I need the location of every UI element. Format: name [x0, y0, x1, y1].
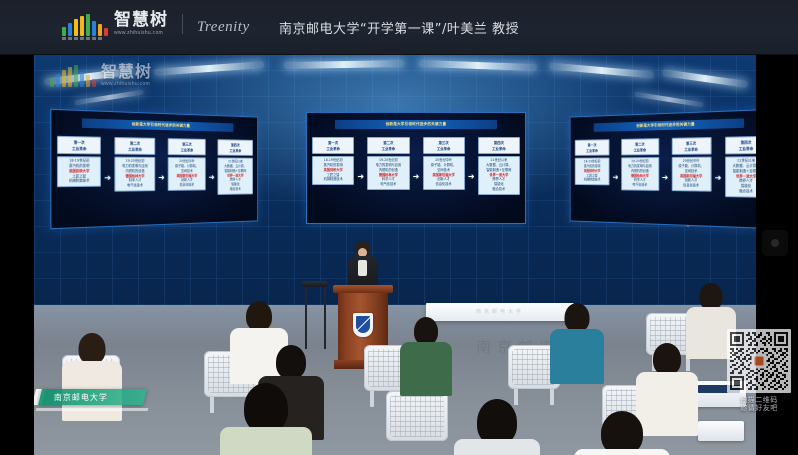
video-player[interactable]: 创新是大学引领时代进步的关键力量 第一次工业革命18-19世纪初蒸汽机的发明英国… — [0, 55, 798, 455]
stool — [302, 281, 328, 351]
slide-item: 大数据、云计算、 — [224, 165, 246, 168]
slide-arrow-icon: ➜ — [208, 139, 216, 216]
watermark-bar-logo-icon — [50, 65, 96, 87]
person-head — [246, 301, 272, 331]
slide-item: 融合技术 — [739, 190, 753, 194]
person-body — [400, 342, 452, 396]
slide-item: 智能制造+互联网 — [225, 170, 247, 173]
slide-item: 英国剑桥大学 — [324, 169, 343, 172]
table-calligraphy: 南京邮电大学 — [432, 307, 568, 316]
qr-caption: 扫描二维码 邀请好友吧 — [740, 396, 778, 414]
slide-column: 第三次工业革命20世纪中叶原子能、计算机、空间技术美国斯坦福大学创新人才信息化技… — [423, 137, 465, 190]
audience-person — [454, 399, 540, 455]
slide-column-heading: 第三次工业革命 — [671, 137, 711, 155]
slide-item: 智能制造+互联网 — [486, 169, 511, 172]
watermark-text: 智慧树 www.zhihuishu.com — [101, 64, 152, 87]
slide-column-heading: 第一次工业革命 — [312, 137, 354, 154]
slide-item: 蒸汽机的发明 — [324, 164, 343, 167]
slide-column-heading: 第二次工业革命 — [114, 137, 155, 155]
slide-column-body: 21世纪以来大数据、云计算、智能制造+互联网世界一流大学跨界人才智能化融合技术 — [725, 156, 756, 197]
slide-column-body: 19-20世纪初电力的发明与应用内燃机的创造德国柏林大学科学人才电气化技术 — [367, 156, 409, 190]
slide-item: 内燃机的创造 — [379, 169, 398, 172]
person-body — [550, 329, 604, 384]
audience-person — [62, 333, 122, 419]
slide-item: 内燃机的创造 — [125, 170, 144, 173]
player-root: 智慧树 www.zhihuishu.com Treenity 南京邮电大学“开学… — [0, 0, 798, 455]
presentation-screen-center: 创新是大学引领时代进步的关键力量 第一次工业革命18-19世纪初蒸汽机的发明英国… — [306, 112, 526, 224]
slide-column: 第一次工业革命18-19世纪初蒸汽机的发明英国剑桥大学工匠之智机械制造技术 — [312, 137, 354, 185]
slide-item: 大数据、云计算、 — [486, 164, 512, 167]
slide-column-heading: 第一次工业革命 — [575, 139, 610, 156]
brand-logo[interactable]: 智慧树 www.zhihuishu.com Treenity — [62, 12, 250, 36]
slide-item: 空间技术 — [685, 170, 698, 173]
logo-bars-wrap — [62, 14, 108, 36]
brand-text: 智慧树 www.zhihuishu.com — [114, 12, 168, 36]
slide-column-body: 18-19世纪初蒸汽机的发明英国剑桥大学工匠之智机械制造技术 — [312, 156, 354, 185]
person-body — [454, 439, 540, 455]
audience-person — [550, 303, 604, 381]
slide-arrow-icon: ➜ — [103, 137, 112, 220]
slide-item: 18-19世纪初 — [324, 159, 343, 162]
slide-item: 19-20世纪初 — [126, 160, 145, 164]
slide-columns: 第一次工业革命18-19世纪初蒸汽机的发明英国剑桥大学工匠之智机械制造技术➜第二… — [312, 137, 520, 217]
slide-title: 创新是大学引领时代进步的关键力量 — [335, 120, 496, 129]
slide-column-body: 21世纪以来大数据、云计算、智能制造+互联网世界一流大学跨界人才智能化融合技术 — [217, 157, 253, 194]
letterbox-left — [0, 55, 34, 455]
slide: 创新是大学引领时代进步的关键力量 第一次工业革命18-19世纪初蒸汽机的发明英国… — [571, 110, 756, 228]
slide-item: 智能制造+互联网 — [733, 170, 756, 174]
slide-arrow-icon: ➜ — [661, 138, 670, 218]
slide-item: 原子能、计算机、 — [431, 164, 457, 167]
university-crest-icon — [353, 313, 373, 337]
slide-column-heading: 第四次工业革命 — [217, 139, 253, 156]
slide-item: 信息化技术 — [436, 183, 452, 186]
slide-arrow-icon: ➜ — [467, 137, 476, 217]
slide-item: 英国剑桥大学 — [69, 170, 90, 174]
light-strip — [154, 61, 264, 76]
slide-arrow-icon: ➜ — [157, 138, 166, 218]
slide-column-body: 20世纪中叶原子能、计算机、空间技术美国斯坦福大学创新人才信息化技术 — [671, 157, 711, 192]
video-watermark: 智慧树 www.zhihuishu.com — [50, 64, 152, 87]
slide-arrow-icon: ➜ — [713, 137, 722, 220]
slide: 创新是大学引领时代进步的关键力量 第一次工业革命18-19世纪初蒸汽机的发明英国… — [51, 110, 257, 228]
slide-title: 创新是大学引领时代进步的关键力量 — [594, 118, 744, 131]
chair-leg — [370, 391, 374, 407]
slide-item: 20世纪中叶 — [435, 159, 452, 162]
slide-item: 英国剑桥大学 — [584, 170, 601, 173]
slide-column-heading: 第三次工业革命 — [423, 137, 465, 154]
slide-column-body: 19-20世纪初电力的发明与应用内燃机的创造德国柏林大学科学人才电气化技术 — [114, 157, 155, 192]
brand-divider — [182, 14, 183, 34]
slide-column-body: 20世纪中叶原子能、计算机、空间技术美国斯坦福大学创新人才信息化技术 — [423, 156, 465, 190]
speaker-shirt — [358, 260, 367, 276]
lower-third-banner: 南京邮电大学 — [38, 389, 147, 405]
slide-item: 电气化技术 — [380, 183, 396, 186]
watermark-url: www.zhihuishu.com — [101, 82, 152, 87]
qr-overlay[interactable]: 扫描二维码 邀请好友吧 — [724, 329, 794, 414]
slide-column-heading: 第三次工业革命 — [168, 138, 206, 155]
slide: 创新是大学引领时代进步的关键力量 第一次工业革命18-19世纪初蒸汽机的发明英国… — [307, 113, 525, 223]
person-body — [220, 427, 312, 455]
desk-tablet — [698, 421, 744, 441]
slide-item: 电力的发明与应用 — [122, 165, 147, 168]
light-strip — [74, 90, 144, 106]
slide-column-heading: 第二次工业革命 — [367, 137, 409, 154]
slide-item: 信息化技术 — [683, 184, 699, 188]
audience-person — [400, 317, 452, 393]
chair-back — [386, 391, 448, 441]
slide-column: 第二次工业革命19-20世纪初电力的发明与应用内燃机的创造德国柏林大学科学人才电… — [114, 137, 155, 191]
audience-person — [574, 411, 670, 455]
light-strip — [419, 60, 537, 71]
slide-item: 21世纪以来 — [228, 160, 243, 163]
slide-title: 创新是大学引领时代进步的关键力量 — [82, 118, 234, 132]
slide-columns: 第一次工业革命18-19世纪初蒸汽机的发明英国剑桥大学工匠之智机械制造技术➜第二… — [575, 136, 756, 222]
slide-item: 20世纪中叶 — [179, 160, 195, 163]
light-strip — [549, 62, 654, 78]
presentation-screen-left: 创新是大学引领时代进步的关键力量 第一次工业革命18-19世纪初蒸汽机的发明英国… — [50, 109, 258, 230]
slide-column: 第四次工业革命21世纪以来大数据、云计算、智能制造+互联网世界一流大学跨界人才智… — [217, 139, 253, 194]
slide-item: 内燃机的创造 — [631, 170, 649, 173]
slide-columns: 第一次工业革命18-19世纪初蒸汽机的发明英国剑桥大学工匠之智机械制造技术➜第二… — [57, 136, 253, 222]
slide-column: 第二次工业革命19-20世纪初电力的发明与应用内燃机的创造德国柏林大学科学人才电… — [621, 138, 658, 190]
qr-code-icon[interactable] — [727, 329, 791, 393]
slide-item: 电力的发明与应用 — [376, 164, 402, 167]
overlay-ghost-button[interactable] — [762, 230, 788, 256]
slide-column-body: 18-19世纪初蒸汽机的发明英国剑桥大学工匠之智机械制造技术 — [57, 156, 101, 187]
person-head — [276, 345, 306, 379]
lower-third-text: 南京邮电大学 — [54, 392, 108, 403]
podium-top — [333, 285, 393, 293]
qr-caption-line2: 邀请好友吧 — [740, 404, 778, 413]
slide-item: 19-20世纪初 — [631, 160, 648, 163]
chair — [386, 391, 448, 455]
slide-item: 蒸汽机的发明 — [584, 165, 601, 168]
slide-item: 融合技术 — [493, 188, 506, 191]
slide-column-body: 20世纪中叶原子能、计算机、空间技术美国斯坦福大学创新人才信息化技术 — [168, 157, 206, 191]
brand-name-en: Treenity — [197, 19, 250, 36]
slide-item: 机械制造技术 — [69, 180, 90, 184]
watermark-name-cn: 智慧树 — [101, 64, 152, 80]
slide-column: 第三次工业革命20世纪中叶原子能、计算机、空间技术美国斯坦福大学创新人才信息化技… — [671, 137, 711, 191]
person-head — [653, 343, 681, 375]
slide-item: 空间技术 — [181, 170, 193, 173]
slide-column-body: 19-20世纪初电力的发明与应用内燃机的创造德国柏林大学科学人才电气化技术 — [621, 157, 658, 191]
slide-item: 大数据、云计算、 — [732, 165, 756, 169]
app-header: 智慧树 www.zhihuishu.com Treenity 南京邮电大学“开学… — [0, 0, 798, 55]
slide-item: 原子能、计算机、 — [175, 165, 199, 168]
slide-column-heading: 第四次工业革命 — [725, 136, 756, 155]
slide-item: 21世纪以来 — [737, 159, 755, 163]
light-strip — [634, 92, 704, 108]
slide-item: 蒸汽机的发明 — [69, 165, 90, 169]
slide-column: 第四次工业革命21世纪以来大数据、云计算、智能制造+互联网世界一流大学跨界人才智… — [725, 136, 756, 198]
slide-item: 机械制造技术 — [324, 178, 343, 181]
slide-column: 第一次工业革命18-19世纪初蒸汽机的发明英国剑桥大学工匠之智机械制造技术 — [57, 136, 101, 187]
slide-item: 20世纪中叶 — [683, 160, 700, 164]
presentation-screen-right: 创新是大学引领时代进步的关键力量 第一次工业革命18-19世纪初蒸汽机的发明英国… — [570, 109, 756, 229]
brand-url: www.zhihuishu.com — [114, 31, 168, 36]
slide-item: 融合技术 — [230, 188, 241, 191]
qr-caption-line1: 扫描二维码 — [740, 396, 778, 405]
slide-item: 18-19世纪初 — [69, 159, 89, 163]
slide-item: 电气化技术 — [632, 184, 647, 187]
banner-underline — [36, 408, 149, 411]
slide-item: 原子能、计算机、 — [678, 165, 703, 168]
logo-baseline — [62, 37, 102, 40]
slide-column-body: 21世纪以来大数据、云计算、智能制造+互联网世界一流大学跨界人才智能化融合技术 — [478, 156, 520, 195]
slide-item: 电气化技术 — [127, 184, 143, 188]
slide-column-body: 18-19世纪初蒸汽机的发明英国剑桥大学工匠之智机械制造技术 — [575, 157, 610, 185]
person-head — [244, 383, 288, 433]
slide-item: 19-20世纪初 — [379, 159, 398, 162]
person-head — [700, 283, 723, 310]
stool-leg — [324, 287, 326, 349]
slide-item: 信息化技术 — [180, 184, 195, 187]
slide-column: 第四次工业革命21世纪以来大数据、云计算、智能制造+互联网世界一流大学跨界人才智… — [478, 137, 520, 195]
light-strip — [662, 69, 748, 88]
slide-column: 第一次工业革命18-19世纪初蒸汽机的发明英国剑桥大学工匠之智机械制造技术 — [575, 139, 610, 185]
slide-arrow-icon: ➜ — [412, 137, 421, 217]
person-head — [414, 317, 438, 345]
bar-chart-logo-icon — [62, 14, 108, 36]
brand-name-cn: 智慧树 — [114, 12, 168, 29]
slide-item: 18-19世纪初 — [584, 160, 600, 163]
slide-column: 第三次工业革命20世纪中叶原子能、计算机、空间技术美国斯坦福大学创新人才信息化技… — [168, 138, 206, 190]
slide-column-heading: 第二次工业革命 — [621, 138, 658, 155]
person-body — [574, 449, 670, 455]
audience-person — [220, 383, 312, 455]
slide-item: 机械制造技术 — [584, 179, 601, 182]
chair-leg — [550, 389, 554, 405]
light-strip — [284, 60, 404, 69]
person-head — [565, 303, 590, 332]
slide-column: 第二次工业革命19-20世纪初电力的发明与应用内燃机的创造德国柏林大学科学人才电… — [367, 137, 409, 190]
person-head — [79, 333, 106, 364]
slide-item: 电力的发明与应用 — [628, 165, 652, 168]
slide-column-heading: 第一次工业革命 — [57, 136, 101, 155]
chair-leg — [210, 397, 214, 413]
qr-center-logo-icon — [752, 353, 767, 368]
slide-arrow-icon: ➜ — [612, 139, 620, 217]
slide-column-heading: 第四次工业革命 — [478, 137, 520, 154]
slide-item: 空间技术 — [437, 169, 450, 172]
slide-item: 21世纪以来 — [490, 159, 507, 162]
stool-leg — [305, 287, 307, 349]
slide-arrow-icon: ➜ — [356, 137, 365, 217]
